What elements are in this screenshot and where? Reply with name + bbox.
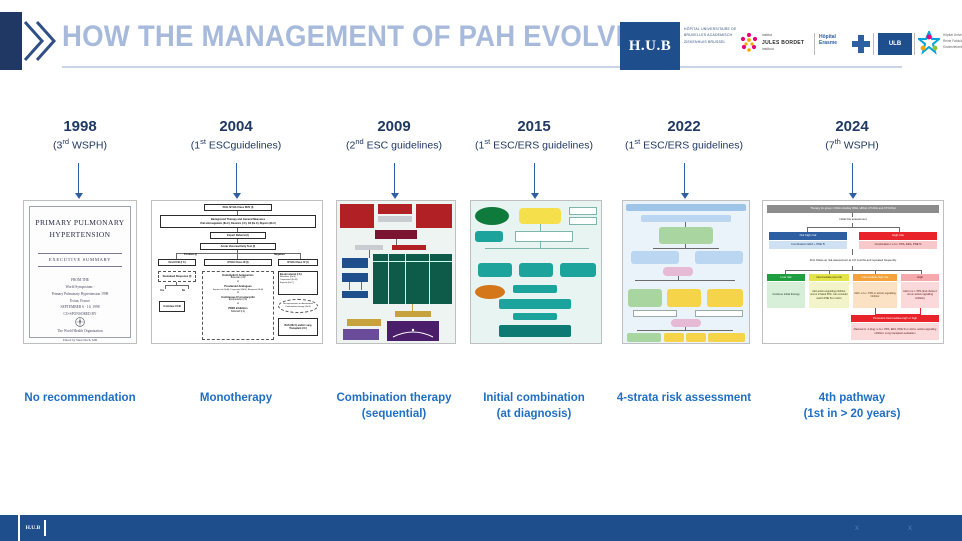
node-2022-lbl-lowint <box>628 282 656 287</box>
footer-mark-right: x <box>908 523 912 532</box>
arrow-down-2009 <box>390 163 400 199</box>
arrow-down-2024 <box>848 163 858 199</box>
node-2009-a <box>340 204 374 228</box>
thumbnail-2004-algorithm[interactable]: PAH, NYHA Class III/IV (I) Background Th… <box>151 200 323 344</box>
caption-2024: 4th pathway (1st in > 20 years) <box>774 391 930 422</box>
arrow-down-1998 <box>74 163 84 199</box>
node-2015-sideB <box>569 217 597 225</box>
doc-body: World Symposium - Primary Pulmonary Hype… <box>24 284 136 311</box>
node-2009-j <box>342 291 368 298</box>
node-2024-int-low-tx: Add activin-signalling inhibitor, oral o… <box>809 282 849 308</box>
node-2024-high-tx: Combination i.v./s.c. PPA, ERA, PDE 5i <box>859 241 937 249</box>
thumbnail-2009-algorithm[interactable] <box>336 200 456 344</box>
timeline-column-2009: 2009 (2nd ESC guidelines) <box>318 118 470 153</box>
node-2022-final-green <box>627 333 661 342</box>
year-sublabel-1998: (3rd WSPH) <box>6 137 154 153</box>
logo-divider <box>814 33 815 55</box>
node-2024-int-low-risk: Intermediate-low risk <box>809 274 849 281</box>
node-2009-table <box>373 254 452 304</box>
caption-2009-line1: Combination therapy <box>316 391 472 407</box>
node-oral-ccb: Oral CCB (I C) <box>158 259 196 266</box>
huderf-logo-text: Hôpital Universitaire des Enfants Reine … <box>943 33 962 50</box>
label-positive: Positive (I) <box>184 253 197 256</box>
node-2015-transplant <box>499 325 571 337</box>
node-2024-int-high-tx: Add i.v./s.c. PPA or activin-signalling … <box>853 282 897 308</box>
node-2015-consider <box>565 285 597 293</box>
year-label-2004: 2004 <box>160 118 312 135</box>
doc-body-line3: Evian, France <box>70 299 90 303</box>
node-2024-header: Therapy for group 1 PAH including IPAH, … <box>767 205 939 213</box>
caption-2022: 4-strata risk assessment <box>604 391 764 407</box>
chevron-right-icon <box>22 18 56 64</box>
label-no: No <box>182 289 185 292</box>
bordet-name: JULES BORDET <box>762 40 804 46</box>
node-class3-treatments: Endothelin II Antagonists Bosentan (I A)… <box>202 271 274 340</box>
huderf-logo: Hôpital Universitaire des Enfants Reine … <box>918 31 962 57</box>
timeline-column-2024: 2024 (7th WSPH) <box>776 118 928 153</box>
node-2009-b <box>378 204 412 214</box>
node-2015-response1 <box>513 285 557 293</box>
doc-rule-top <box>38 253 122 254</box>
node-2022-lbl-high <box>669 282 687 287</box>
huderf-star-icon <box>918 31 940 55</box>
node-2024-not-high-tx: Combination ERA + PDE 5i <box>769 241 847 249</box>
ulb-logo: ULB <box>878 33 912 55</box>
node-nyha-3: NYHA Class III (I) <box>204 259 272 266</box>
label-negative: Negative <box>274 253 285 256</box>
doc-title: PRIMARY PULMONARY HYPERTENSION <box>24 217 136 241</box>
doc-body-line2: Primary Pulmonary Hypertension 1998 <box>52 292 109 296</box>
node-2024-high: High <box>901 274 939 281</box>
node-combination-therapy: No improvement or deterioration Combinat… <box>278 299 318 313</box>
erasme-cross-icon <box>852 35 870 53</box>
caption-2022-line1: 4-strata risk assessment <box>604 391 764 407</box>
caption-2024-line1: 4th pathway <box>774 391 930 407</box>
year-label-2015: 2015 <box>458 118 610 135</box>
erasme-logo-text: Hôpital Erasme <box>819 34 837 47</box>
year-sublabel-2009: (2nd ESC guidelines) <box>318 137 470 153</box>
node-2015-double-triple <box>499 299 571 309</box>
year-label-2024: 2024 <box>776 118 928 135</box>
node-2015-ivcomb <box>560 263 596 277</box>
node-bas-transplant: BAS (IIb C) and/or Lung Transplant (I C) <box>278 318 318 336</box>
doc-title-line1: PRIMARY PULMONARY <box>35 218 124 227</box>
node-2009-k <box>395 311 431 317</box>
node-2024-high-risk: High risk <box>859 232 937 240</box>
year-label-1998: 1998 <box>6 118 154 135</box>
jules-bordet-logo: institut JULES BORDET instituut <box>739 32 819 58</box>
title-underline <box>62 66 902 68</box>
node-2024-persistent: Persistent intermediate-high or high <box>851 315 939 322</box>
slide-header: HOW THE MANAGEMENT OF PAH EVOLVED H.U.B … <box>0 0 962 86</box>
caption-2015: Initial combination (at diagnosis) <box>458 391 610 422</box>
node-2015-sideA <box>569 207 597 215</box>
caption-2015-line1: Initial combination <box>458 391 610 407</box>
bordet-flower-icon <box>739 32 759 54</box>
node-2009-h <box>342 258 368 268</box>
timeline-column-2022: 2022 (1st ESC/ERS guidelines) <box>608 118 760 153</box>
node-2015-entry <box>475 207 509 225</box>
node-2022-general <box>641 215 731 222</box>
sub-pre: (3 <box>53 140 62 152</box>
node-2015-initcomb <box>519 263 553 277</box>
thumbnail-1998-document[interactable]: PRIMARY PULMONARY HYPERTENSION EXECUTIVE… <box>23 200 137 344</box>
node-2015-response2 <box>513 313 557 320</box>
node-2009-e <box>375 230 417 239</box>
node-2024-low-risk: Low risk <box>767 274 805 281</box>
node-class4-treatments: Epoprostenol (I A) Bosentan (IIa B) Trep… <box>278 271 318 295</box>
node-2022-risk-3strata <box>663 267 693 276</box>
bordet-institut: institut <box>762 33 772 37</box>
erasme-line2: Erasme <box>819 40 837 46</box>
node-2015-high <box>559 253 593 261</box>
thumbnail-2022-algorithm[interactable] <box>622 200 750 344</box>
caption-1998: No recommendation <box>0 391 160 407</box>
year-label-2022: 2022 <box>608 118 760 135</box>
timeline-column-1998: 1998 (3rd WSPH) <box>6 118 154 153</box>
sub-post: WSPH) <box>69 140 107 152</box>
doc-org: The World Health Organization <box>24 328 136 335</box>
node-2015-mono <box>478 263 512 277</box>
node-2022-title <box>626 204 746 211</box>
logo-divider-2 <box>873 33 874 55</box>
node-nyha-4: NYHA Class IV (I) <box>278 259 318 266</box>
node-2024-int-high-risk: Intermediate-high risk <box>853 274 897 281</box>
node-2015-inadequate <box>475 285 505 299</box>
caption-2009-line2: (sequential) <box>316 407 472 423</box>
timeline-column-2015: 2015 (1st ESC/ERS guidelines) <box>458 118 610 153</box>
node-2009-d <box>378 216 412 222</box>
node-2015-general <box>519 208 561 224</box>
hopital-erasme-logo: Hôpital Erasme <box>819 32 877 58</box>
slide-footer: H.U.B x x <box>0 515 962 541</box>
thumbnail-2024-algorithm[interactable]: Therapy for group 1 PAH including IPAH, … <box>762 200 944 344</box>
doc-body-line1: World Symposium - <box>65 285 94 289</box>
footer-hub-logo: H.U.B <box>22 520 46 536</box>
node-2022-yellow-box <box>667 289 701 307</box>
caption-2015-line2: (at diagnosis) <box>458 407 610 423</box>
caption-2009: Combination therapy (sequential) <box>316 391 472 422</box>
year-label-2009: 2009 <box>318 118 470 135</box>
node-2022-final-y1 <box>664 333 684 342</box>
page-title: HOW THE MANAGEMENT OF PAH EVOLVED <box>62 20 654 54</box>
node-2024-initial-risk: Initial risk assessment <box>818 217 888 223</box>
node-2024-followup: First follow-up risk assessment at 3-6 m… <box>799 255 907 266</box>
timeline-column-2004: 2004 (1st ESCguidelines) <box>160 118 312 153</box>
node-background-therapy: Background Therapy and General Measures … <box>160 215 316 228</box>
logo-divider-3 <box>914 33 915 55</box>
node-2009-c <box>416 204 452 228</box>
who-emblem-icon <box>73 316 87 328</box>
node-2024-low-risk-tx: Continue initial therapy <box>767 282 805 308</box>
node-2009-curve-icon <box>391 327 435 339</box>
arrow-down-2022 <box>680 163 690 199</box>
node-2022-final-y2 <box>686 333 706 342</box>
arrow-down-2015 <box>530 163 540 199</box>
node-continue-ccb: Continue CCB <box>159 301 185 312</box>
hub-logo: H.U.B <box>620 22 680 70</box>
node-2009-n <box>343 329 379 340</box>
node-pah-class: PAH, NYHA Class III/IV (I) <box>204 204 272 211</box>
caption-2024-line2: (1st in > 20 years) <box>774 407 930 423</box>
node-2015-ccb <box>475 231 503 242</box>
doc-title-line2: HYPERTENSION <box>49 230 110 239</box>
node-2022-yellow-box2 <box>707 289 743 307</box>
doc-from: FROM THE <box>24 277 136 284</box>
node-2024-high-tx2: Add i.v./s.c. PPA (2nd choice if not on … <box>901 282 939 308</box>
bordet-logo-text: institut JULES BORDET instituut <box>762 33 804 53</box>
doc-subtitle: EXECUTIVE SUMMARY <box>24 257 136 262</box>
node-2009-m <box>347 319 381 326</box>
label-yes: Yes <box>160 289 164 292</box>
node-2022-followup-left <box>633 310 677 317</box>
node-2022-right-branch <box>695 251 743 264</box>
caption-2004: Monotherapy <box>158 391 314 407</box>
arrow-down-2004 <box>232 163 242 199</box>
year-sublabel-2024: (7th WSPH) <box>776 137 928 153</box>
node-2015-lowint <box>477 253 527 261</box>
node-2009-i <box>342 273 368 282</box>
thumbnail-2015-algorithm[interactable] <box>470 200 602 344</box>
doc-body-line4: SEPTEMBER 6 - 10, 1998 <box>60 305 99 309</box>
node-2022-final-y3 <box>708 333 745 342</box>
node-2022-left-branch <box>631 251 679 264</box>
node-2024-maximal-tx: Maximal tx. 4-drug i.v./s.c. PPA, ERA, P… <box>851 323 939 340</box>
bordet-instituut: instituut <box>762 47 774 51</box>
caption-1998-line1: No recommendation <box>0 391 160 407</box>
year-sublabel-2022: (1st ESC/ERS guidelines) <box>608 137 760 153</box>
node-sustained-response: Sustained Response (I) <box>158 271 196 282</box>
node-2024-not-high-risk: Not high risk <box>769 232 847 240</box>
node-vasoreactivity: Acute Vasoreactivity Test (I) <box>200 243 276 250</box>
node-2022-risk-4strata <box>671 319 701 327</box>
node-2022-vasoreactivity <box>659 227 713 244</box>
footer-edge <box>18 515 20 541</box>
header-accent-block <box>0 12 22 70</box>
year-sublabel-2015: (1st ESC/ERS guidelines) <box>458 137 610 153</box>
caption-2004-line1: Monotherapy <box>158 391 314 407</box>
doc-rule-bottom <box>38 266 122 267</box>
node-2022-followup-right <box>695 310 743 317</box>
node-2022-green-box <box>628 289 662 307</box>
doc-footer: Edited by Stuart Rich, MD <box>24 337 136 343</box>
node-expert-referral: Expert Referral (I) <box>210 232 266 239</box>
footer-mark-left: x <box>855 523 859 532</box>
erasme-line1: Hôpital <box>819 34 836 40</box>
node-2009-g <box>392 245 426 250</box>
year-sublabel-2004: (1st ESCguidelines) <box>160 137 312 153</box>
node-2015-vasoreactive <box>515 231 573 242</box>
